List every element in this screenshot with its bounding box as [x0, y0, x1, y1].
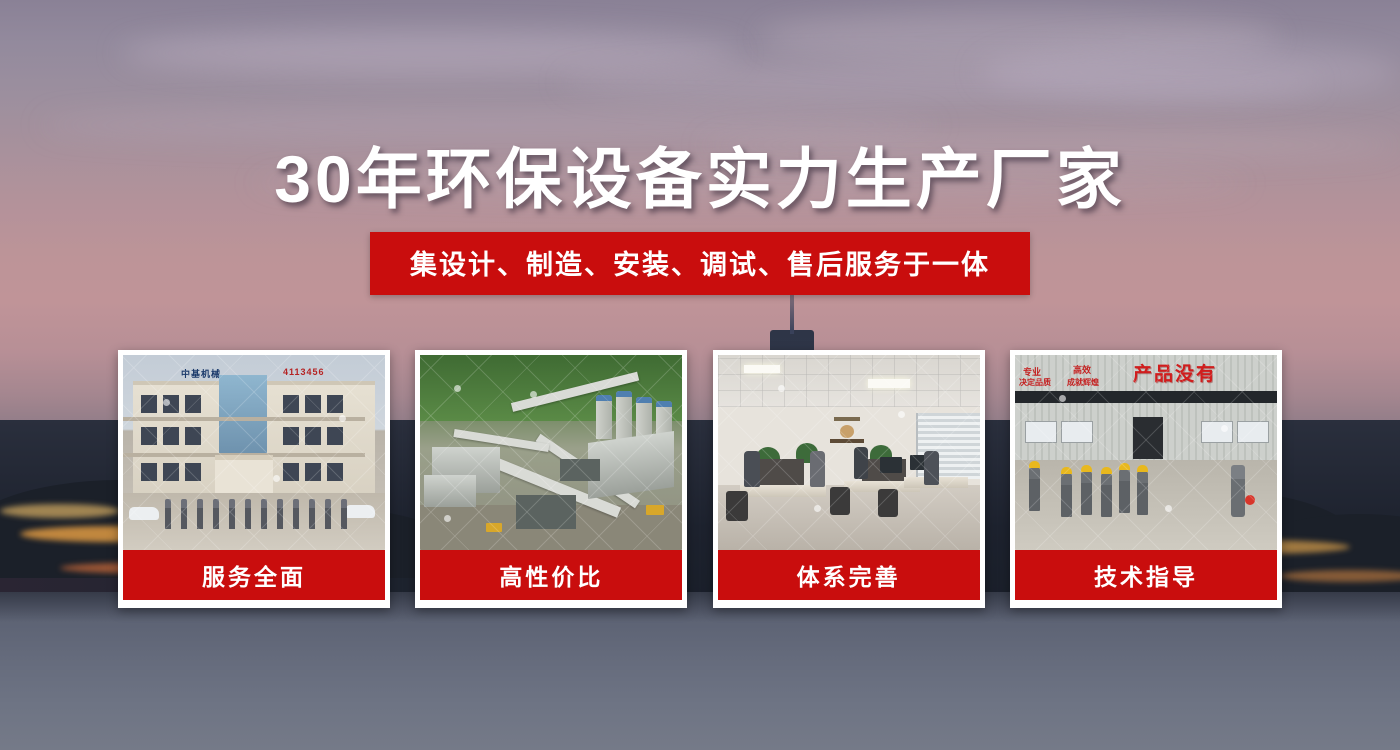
feature-card-list: 中基机械 4113456	[118, 350, 1282, 608]
feature-card[interactable]: 高性价比	[415, 350, 687, 608]
card-caption: 高性价比	[420, 550, 682, 600]
workshop-training-photo: 产品没有 专业 决定品质 高效 成就辉煌	[1015, 355, 1277, 550]
feature-card[interactable]: 中基机械 4113456	[118, 350, 390, 608]
river-water	[0, 592, 1400, 750]
production-plant-aerial-photo	[420, 355, 682, 550]
feature-card[interactable]: 产品没有 专业 决定品质 高效 成就辉煌	[1010, 350, 1282, 608]
hero-banner: 30年环保设备实力生产厂家 集设计、制造、安装、调试、售后服务于一体 中基机械 …	[0, 0, 1400, 750]
card-caption: 服务全面	[123, 550, 385, 600]
subtitle-banner: 集设计、制造、安装、调试、售后服务于一体	[370, 232, 1030, 295]
card-caption: 技术指导	[1015, 550, 1277, 600]
feature-card[interactable]: 体系完善	[713, 350, 985, 608]
page-title: 30年环保设备实力生产厂家	[0, 126, 1400, 222]
card-caption: 体系完善	[718, 550, 980, 600]
office-interior-photo	[718, 355, 980, 550]
company-headquarters-photo: 中基机械 4113456	[123, 355, 385, 550]
